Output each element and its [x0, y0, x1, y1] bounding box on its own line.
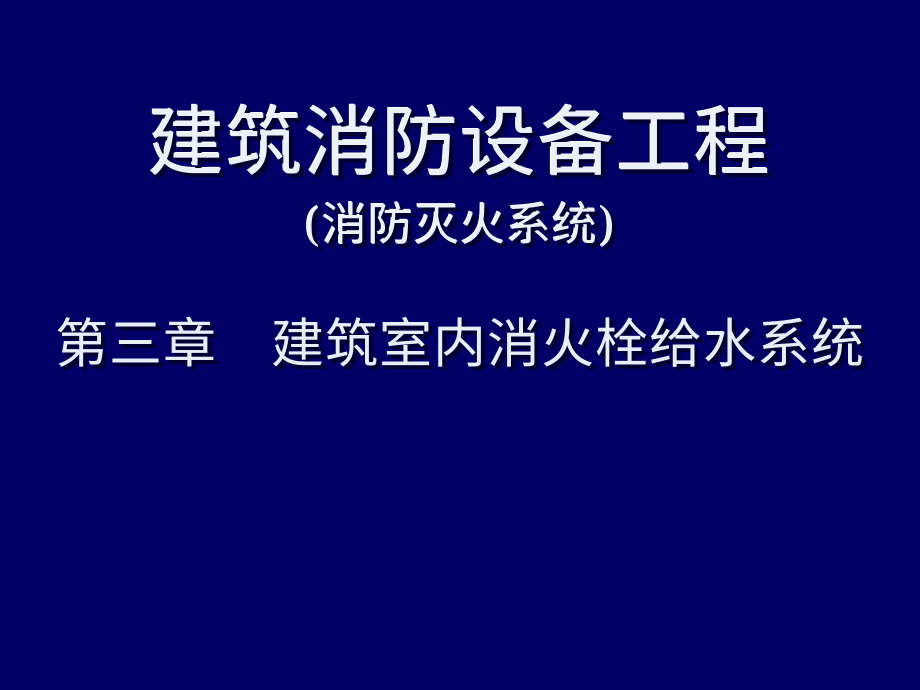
- presentation-slide: 建筑消防设备工程 (消防灭火系统) 第三章 建筑室内消火栓给水系统: [0, 0, 920, 690]
- slide-subtitle: (消防灭火系统): [0, 202, 920, 247]
- slide-content-area: [0, 400, 920, 690]
- slide-chapter-heading: 第三章 建筑室内消火栓给水系统: [0, 318, 920, 371]
- slide-title: 建筑消防设备工程: [0, 105, 920, 181]
